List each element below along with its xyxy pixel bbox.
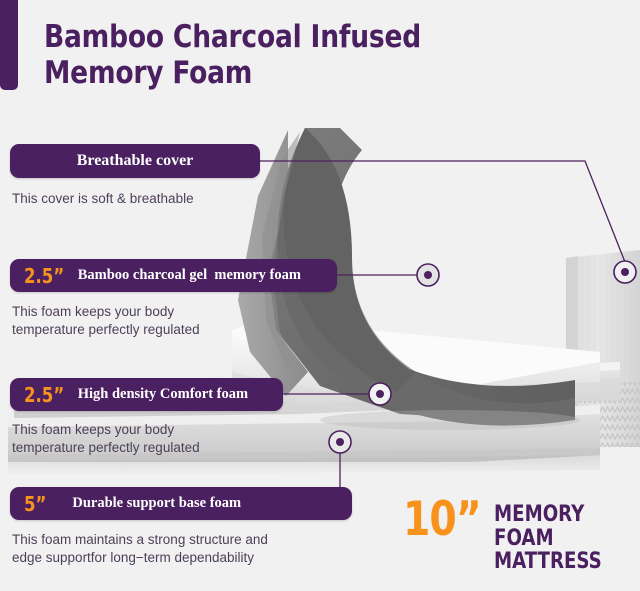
callout-badge-gel-memory-foam[interactable]: 2.5” Bamboo charcoal gel memory foam bbox=[10, 259, 337, 292]
callout-label-breathable-cover: Breathable cover bbox=[77, 153, 194, 169]
callout-badge-comfort-foam[interactable]: 2.5” High density Comfort foam bbox=[10, 378, 283, 411]
callout-measurement-base-foam: 5” bbox=[24, 494, 46, 514]
callout-label-gel-memory-foam: Bamboo charcoal gel memory foam bbox=[78, 268, 301, 283]
callout-marker-comfort-foam bbox=[369, 383, 391, 405]
callout-description-comfort-foam: This foam keeps your body temperature pe… bbox=[12, 421, 332, 457]
callout-marker-gel-memory-foam bbox=[417, 264, 439, 286]
callout-badge-breathable-cover[interactable]: Breathable cover bbox=[10, 144, 260, 178]
callout-badge-base-foam[interactable]: 5” Durable support base foam bbox=[10, 487, 352, 520]
callout-description-gel-memory-foam: This foam keeps your body temperature pe… bbox=[12, 303, 332, 339]
product-name-line-1: MEMORY FOAM bbox=[494, 503, 629, 550]
title-line-2: Memory Foam bbox=[44, 56, 538, 92]
page-title: Bamboo Charcoal Infused Memory Foam bbox=[44, 20, 538, 92]
product-size: 10” bbox=[403, 500, 481, 540]
callout-marker-breathable-cover bbox=[614, 261, 636, 283]
callout-marker-base-foam bbox=[329, 431, 351, 453]
product-name: MEMORY FOAM MATTRESS bbox=[494, 500, 629, 574]
callout-description-breathable-cover: This cover is soft & breathable bbox=[12, 190, 312, 208]
callout-measurement-gel-memory-foam: 2.5” bbox=[24, 266, 64, 286]
product-lockup: 10” MEMORY FOAM MATTRESS bbox=[403, 500, 640, 574]
product-name-line-2: MATTRESS bbox=[494, 550, 629, 574]
title-line-1: Bamboo Charcoal Infused bbox=[44, 20, 538, 56]
callout-label-base-foam: Durable support base foam bbox=[72, 496, 241, 511]
callout-description-base-foam: This foam maintains a strong structure a… bbox=[12, 531, 392, 567]
infographic-canvas: Bamboo Charcoal Infused Memory Foam Brea… bbox=[0, 0, 640, 591]
callout-label-comfort-foam: High density Comfort foam bbox=[78, 387, 248, 402]
callout-measurement-comfort-foam: 2.5” bbox=[24, 385, 64, 405]
accent-bar bbox=[0, 0, 18, 90]
